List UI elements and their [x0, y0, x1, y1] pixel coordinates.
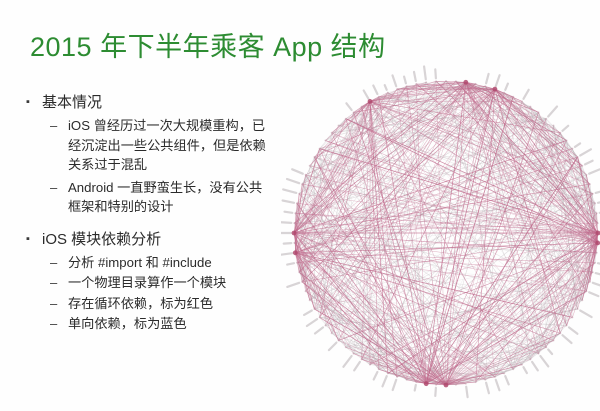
- dash-marker-icon: –: [50, 294, 68, 314]
- list-item: – Android 一直野蛮生长，没有公共框架和特别的设计: [22, 178, 290, 217]
- list-item-label: Android 一直野蛮生长，没有公共框架和特别的设计: [68, 178, 273, 217]
- bullet-level1-basic: ▪ 基本情况: [22, 92, 290, 113]
- list-item-label: 存在循环依赖，标为红色: [68, 294, 273, 314]
- slide-canvas: 2015 年下半年乘客 App 结构 ▪ 基本情况 – iOS 曾经历过一次大规…: [0, 0, 600, 411]
- list-item: – 存在循环依赖，标为红色: [22, 294, 290, 314]
- dependency-graph-svg: [281, 62, 600, 402]
- bullet-content: ▪ 基本情况 – iOS 曾经历过一次大规模重构，已经沉淀出一些公共组件，但是依…: [22, 92, 290, 335]
- bullet-level1-label: iOS 模块依赖分析: [42, 229, 290, 250]
- bullet-level1-ios-analysis: ▪ iOS 模块依赖分析: [22, 229, 290, 250]
- list-item-label: iOS 曾经历过一次大规模重构，已经沉淀出一些公共组件，但是依赖关系过于混乱: [68, 116, 273, 175]
- bullet-level2-list: – 分析 #import 和 #include – 一个物理目录算作一个模块 –…: [22, 253, 290, 334]
- bullet-level1-label: 基本情况: [42, 92, 290, 113]
- dash-marker-icon: –: [50, 178, 68, 198]
- list-item: – 一个物理目录算作一个模块: [22, 273, 290, 293]
- module-dependency-graph: [281, 62, 600, 402]
- list-item-label: 分析 #import 和 #include: [68, 253, 273, 273]
- bullet-group-1: ▪ 基本情况 – iOS 曾经历过一次大规模重构，已经沉淀出一些公共组件，但是依…: [22, 92, 290, 217]
- dash-marker-icon: –: [50, 253, 68, 273]
- list-item: – 分析 #import 和 #include: [22, 253, 290, 273]
- bullet-marker-icon: ▪: [22, 229, 42, 250]
- bullet-level2-list: – iOS 曾经历过一次大规模重构，已经沉淀出一些公共组件，但是依赖关系过于混乱…: [22, 116, 290, 217]
- list-item-label: 一个物理目录算作一个模块: [68, 273, 273, 293]
- list-item: – 单向依赖，标为蓝色: [22, 314, 290, 334]
- page-title: 2015 年下半年乘客 App 结构: [30, 30, 386, 64]
- list-item: – iOS 曾经历过一次大规模重构，已经沉淀出一些公共组件，但是依赖关系过于混乱: [22, 116, 290, 175]
- bullet-group-2: ▪ iOS 模块依赖分析 – 分析 #import 和 #include – 一…: [22, 229, 290, 334]
- list-item-label: 单向依赖，标为蓝色: [68, 314, 273, 334]
- dash-marker-icon: –: [50, 314, 68, 334]
- dash-marker-icon: –: [50, 116, 68, 136]
- dash-marker-icon: –: [50, 273, 68, 293]
- bullet-marker-icon: ▪: [22, 92, 42, 113]
